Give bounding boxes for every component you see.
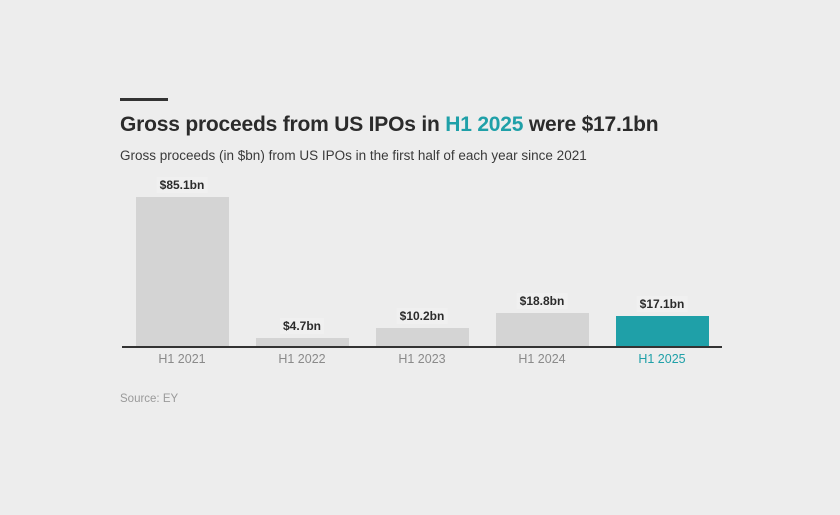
x-tick-h1-2023: H1 2023 [362, 352, 482, 366]
source-note: Source: EY [120, 393, 178, 405]
plot-area: $85.1bn $4.7bn $10.2bn $18.8bn $17.1bn [122, 176, 722, 348]
bar-slot-h1-2024: $18.8bn [482, 176, 602, 346]
bar-value-label: $18.8bn [517, 293, 568, 309]
chart-header: Gross proceeds from US IPOs in H1 2025 w… [120, 98, 760, 165]
bar-slot-h1-2021: $85.1bn [122, 176, 242, 346]
bar-h1-2023[interactable] [376, 328, 469, 346]
bar-slot-h1-2023: $10.2bn [362, 176, 482, 346]
bar-slot-h1-2022: $4.7bn [242, 176, 362, 346]
chart-subtitle: Gross proceeds (in $bn) from US IPOs in … [120, 147, 760, 165]
x-tick-h1-2022: H1 2022 [242, 352, 362, 366]
chart-figure: Gross proceeds from US IPOs in H1 2025 w… [0, 0, 840, 515]
title-suffix: were $17.1bn [523, 113, 658, 136]
bar-h1-2021[interactable] [136, 197, 229, 346]
x-tick-h1-2025: H1 2025 [602, 352, 722, 366]
bar-value-label: $17.1bn [637, 296, 688, 312]
bar-value-label: $10.2bn [397, 308, 448, 324]
x-tick-h1-2024: H1 2024 [482, 352, 602, 366]
x-axis-ticks: H1 2021 H1 2022 H1 2023 H1 2024 H1 2025 [122, 352, 722, 366]
bar-slot-h1-2025: $17.1bn [602, 176, 722, 346]
bar-h1-2024[interactable] [496, 313, 589, 346]
x-tick-h1-2021: H1 2021 [122, 352, 242, 366]
page-title: Gross proceeds from US IPOs in H1 2025 w… [120, 113, 760, 137]
bar-group: $85.1bn $4.7bn $10.2bn $18.8bn $17.1bn [122, 176, 722, 346]
bar-value-label: $85.1bn [157, 177, 208, 193]
bar-h1-2025[interactable] [616, 316, 709, 346]
x-axis-line [122, 346, 722, 348]
title-accent: H1 2025 [445, 113, 523, 136]
bar-value-label: $4.7bn [280, 318, 324, 334]
bar-h1-2022[interactable] [256, 338, 349, 346]
title-rule [120, 98, 168, 101]
title-prefix: Gross proceeds from US IPOs in [120, 113, 445, 136]
